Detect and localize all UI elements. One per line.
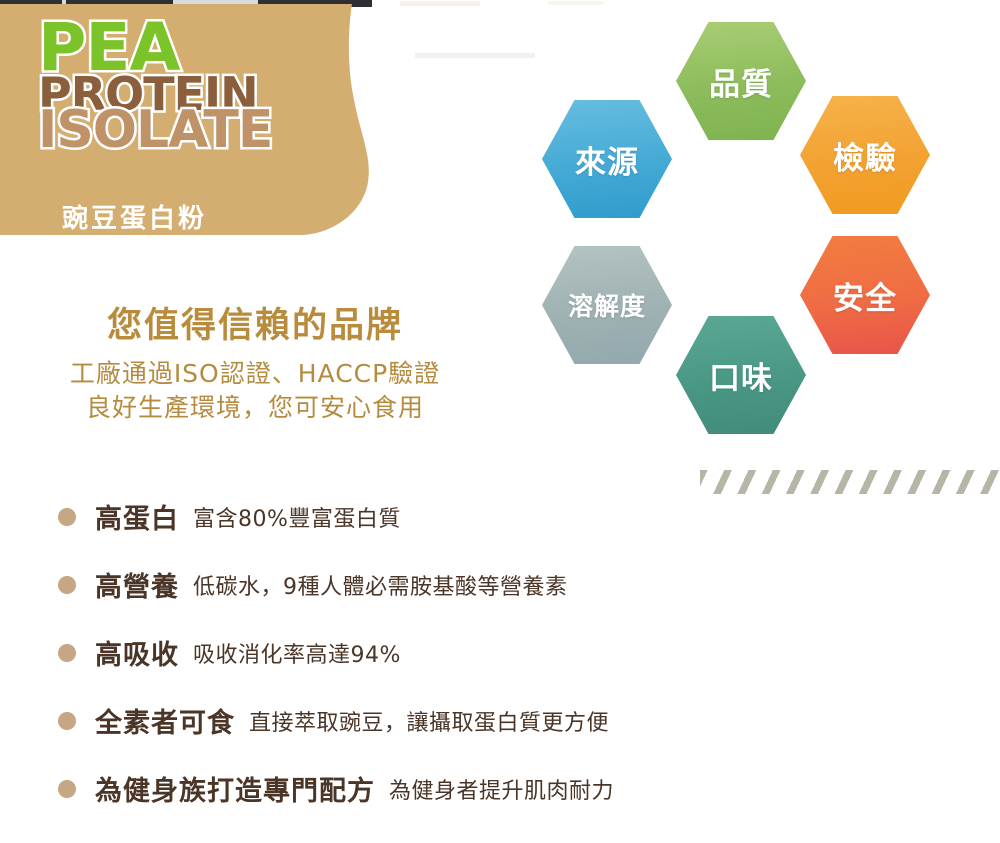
top-artifact — [548, 1, 603, 5]
product-logo: PEA PROTEIN ISOLATE — [38, 18, 268, 155]
feature-title: 高吸收 — [95, 633, 179, 672]
product-infographic-page: PEA PROTEIN ISOLATE 豌豆蛋白粉 您值得信賴的品牌 工廠通過I… — [0, 0, 1000, 843]
bullet-dot-icon — [58, 644, 76, 662]
bullet-dot-icon — [58, 712, 76, 730]
hexagon-quality-label: 品質 — [709, 59, 773, 104]
feature-title: 高蛋白 — [95, 497, 179, 536]
top-artifact — [400, 1, 480, 6]
bullet-dot-icon — [58, 508, 76, 526]
hexagon-source-label: 來源 — [575, 137, 639, 182]
diagonal-stripe-divider — [700, 470, 1000, 494]
feature-desc: 吸收消化率高達94% — [193, 637, 401, 669]
hexagon-quality: 品質 — [676, 22, 806, 140]
hexagon-source: 來源 — [542, 100, 672, 218]
feature-desc: 低碳水，9種人體必需胺基酸等營養素 — [193, 569, 568, 601]
feature-title: 為健身族打造專門配方 — [95, 769, 375, 808]
trust-subtext-line-1: 工廠通過ISO認證、HACCP驗證 — [0, 357, 510, 391]
bullet-dot-icon — [58, 780, 76, 798]
bullet-dot-icon — [58, 576, 76, 594]
hexagon-taste: 口味 — [676, 316, 806, 434]
trust-subtext: 工廠通過ISO認證、HACCP驗證 良好生產環境，您可安心食用 — [0, 357, 510, 425]
logo-line-isolate: ISOLATE — [38, 107, 268, 155]
feature-title: 全素者可食 — [95, 701, 235, 740]
trust-subtext-line-2: 良好生產環境，您可安心食用 — [0, 391, 510, 425]
trust-block: 您值得信賴的品牌 工廠通過ISO認證、HACCP驗證 良好生產環境，您可安心食用 — [0, 305, 510, 425]
top-artifact — [415, 53, 535, 58]
hexagon-solubility-label: 溶解度 — [568, 287, 646, 323]
list-item: 高蛋白 富含80%豐富蛋白質 — [58, 497, 958, 536]
trust-headline: 您值得信賴的品牌 — [0, 305, 510, 347]
hexagon-safety: 安全 — [800, 236, 930, 354]
hexagon-inspection-label: 檢驗 — [833, 133, 897, 178]
hexagon-safety-label: 安全 — [833, 273, 897, 318]
list-item: 高營養 低碳水，9種人體必需胺基酸等營養素 — [58, 565, 958, 604]
feature-list: 高蛋白 富含80%豐富蛋白質 高營養 低碳水，9種人體必需胺基酸等營養素 高吸收… — [58, 497, 958, 837]
hexagon-inspection: 檢驗 — [800, 96, 930, 214]
list-item: 高吸收 吸收消化率高達94% — [58, 633, 958, 672]
logo-chinese-name: 豌豆蛋白粉 — [62, 198, 207, 235]
feature-desc: 直接萃取豌豆，讓攝取蛋白質更方便 — [249, 705, 609, 737]
list-item: 為健身族打造專門配方 為健身者提升肌肉耐力 — [58, 769, 958, 808]
list-item: 全素者可食 直接萃取豌豆，讓攝取蛋白質更方便 — [58, 701, 958, 740]
hexagon-taste-label: 口味 — [709, 353, 773, 398]
feature-desc: 為健身者提升肌肉耐力 — [389, 773, 614, 805]
feature-desc: 富含80%豐富蛋白質 — [193, 501, 401, 533]
feature-title: 高營養 — [95, 565, 179, 604]
hexagon-cluster: 品質 來源 檢驗 溶解度 安全 口味 — [520, 8, 990, 458]
hexagon-solubility: 溶解度 — [542, 246, 672, 364]
